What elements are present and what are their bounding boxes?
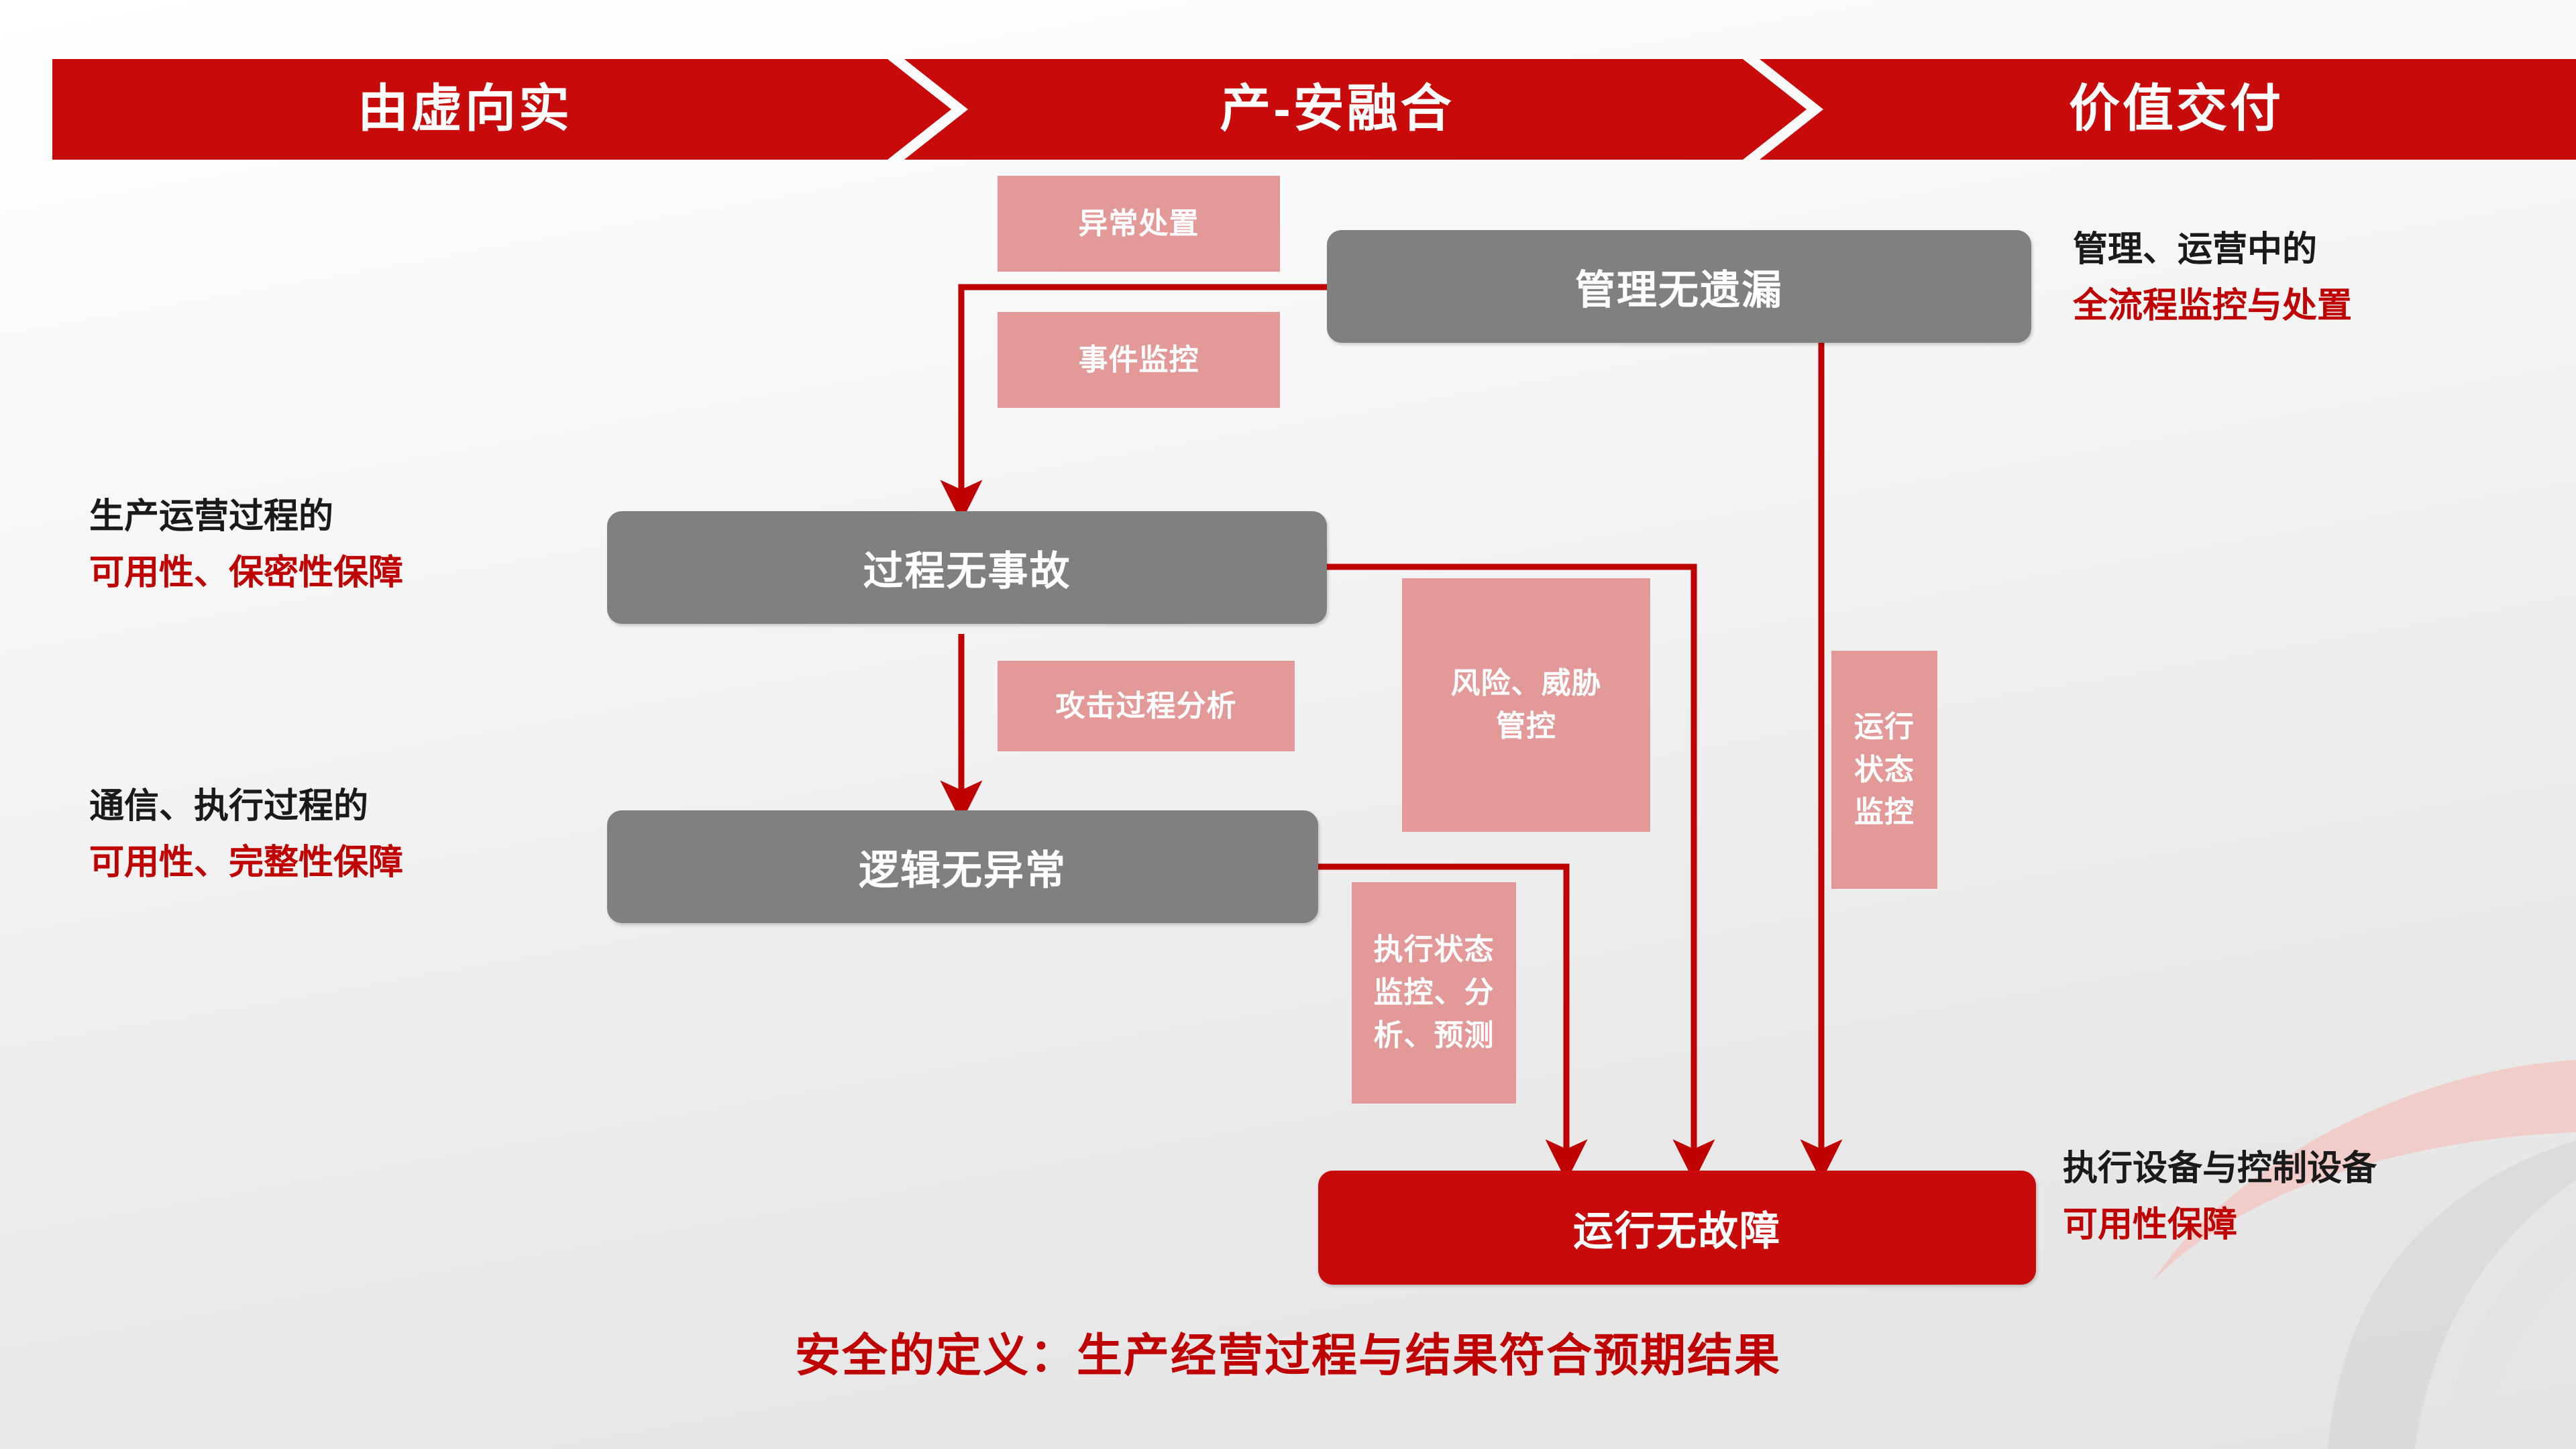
tag-line: 监控 xyxy=(1854,791,1915,834)
node-process-no-accident[interactable]: 过程无事故 xyxy=(607,511,1327,624)
tag-event-monitoring: 事件监控 xyxy=(998,312,1280,408)
slide-canvas: 由虚向实 产-安融合 价值交付 异常处置 事件监控 攻击过程分析 风险、威胁 管… xyxy=(0,0,2576,1449)
tag-runtime-state-monitoring: 运行 状态 监控 xyxy=(1831,651,1937,889)
tag-risk-threat-control: 风险、威胁 管控 xyxy=(1402,578,1650,832)
tag-attack-process-analysis: 攻击过程分析 xyxy=(998,661,1295,751)
stage-banner: 由虚向实 产-安融合 价值交付 xyxy=(52,59,2576,160)
annotation-left-bottom: 通信、执行过程的 可用性、完整性保障 xyxy=(89,778,403,891)
annotation-line-1: 执行设备与控制设备 xyxy=(2063,1140,2377,1197)
annotation-line-2: 可用性、保密性保障 xyxy=(89,545,403,601)
tag-line: 状态 xyxy=(1854,749,1915,792)
tag-line: 析、预测 xyxy=(1374,1014,1495,1057)
tag-line: 执行状态 xyxy=(1374,928,1495,971)
node-operation-no-failure[interactable]: 运行无故障 xyxy=(1318,1171,2036,1285)
annotation-left-top: 生产运营过程的 可用性、保密性保障 xyxy=(89,488,403,601)
node-management-no-omission[interactable]: 管理无遗漏 xyxy=(1327,230,2031,343)
tag-line: 管控 xyxy=(1496,705,1556,748)
stage-label-1: 由虚向实 xyxy=(52,59,877,160)
annotation-line-1: 生产运营过程的 xyxy=(89,488,403,545)
stage-label-3: 价值交付 xyxy=(1776,59,2576,160)
tag-execution-state-monitoring: 执行状态 监控、分 析、预测 xyxy=(1352,882,1516,1104)
tag-line: 风险、威胁 xyxy=(1451,662,1602,705)
annotation-line-1: 通信、执行过程的 xyxy=(89,778,403,835)
annotation-right-bottom: 执行设备与控制设备 可用性保障 xyxy=(2063,1140,2377,1253)
tag-line: 运行 xyxy=(1854,706,1915,749)
annotation-line-1: 管理、运营中的 xyxy=(2073,221,2352,278)
annotation-line-2: 可用性保障 xyxy=(2063,1197,2377,1253)
tag-line: 监控、分 xyxy=(1374,971,1495,1014)
annotation-line-2: 全流程监控与处置 xyxy=(2073,278,2352,334)
annotation-line-2: 可用性、完整性保障 xyxy=(89,835,403,891)
slide-caption: 安全的定义：生产经营过程与结果符合预期结果 xyxy=(0,1318,2576,1385)
tag-exception-handling: 异常处置 xyxy=(998,176,1280,272)
annotation-right-top: 管理、运营中的 全流程监控与处置 xyxy=(2073,221,2352,334)
node-logic-no-anomaly[interactable]: 逻辑无异常 xyxy=(607,810,1318,923)
stage-label-2: 产-安融合 xyxy=(924,59,1750,160)
